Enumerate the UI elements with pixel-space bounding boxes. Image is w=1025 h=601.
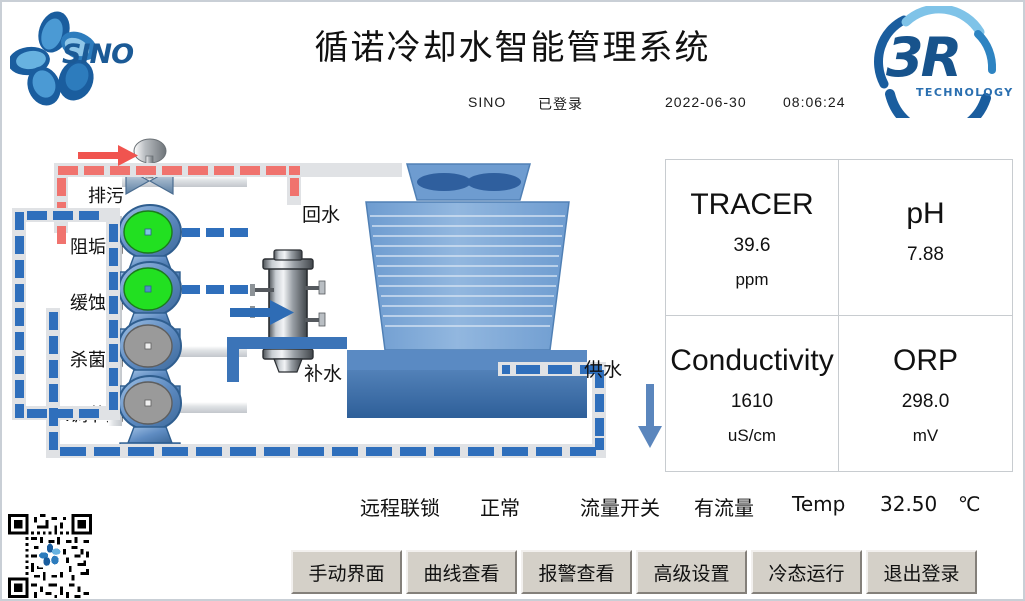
manual-interface-button[interactable]: 手动界面 [291, 550, 402, 594]
meter-orp-unit: mV [913, 427, 939, 444]
meter-ph[interactable]: pH 7.88 [839, 160, 1012, 316]
pump-ph-adjuster[interactable] [119, 376, 181, 453]
current-date: 2022-06-30 [665, 94, 747, 110]
temp-unit: ℃ [958, 492, 980, 516]
current-time: 08:06:24 [783, 94, 846, 110]
login-status: 已登录 [538, 94, 583, 114]
qr-code-icon [8, 514, 92, 598]
meter-orp-name: ORP [893, 346, 958, 376]
meter-conductivity[interactable]: Conductivity 1610 uS/cm [666, 316, 839, 472]
measurement-panel: TRACER 39.6 ppm pH 7.88 Conductivity 161… [665, 159, 1013, 472]
meter-conductivity-unit: uS/cm [728, 427, 776, 444]
meter-ph-name: pH [906, 199, 944, 229]
meter-tracer-value: 39.6 [734, 236, 771, 255]
3r-wordmark: 3R [886, 26, 959, 89]
curve-view-button[interactable]: 曲线查看 [406, 550, 517, 594]
remote-interlock-value: 正常 [480, 492, 520, 521]
cooling-tower [347, 164, 587, 418]
temp-value: 32.50 [880, 492, 937, 516]
remote-interlock-label: 远程联锁 [360, 492, 440, 521]
label-makeup-water: 补水 [304, 359, 342, 386]
return-flow-arrow-icon [78, 145, 138, 166]
meter-conductivity-value: 1610 [731, 392, 773, 411]
status-row: 远程联锁 正常 流量开关 有流量 Temp 32.50 ℃ [2, 492, 1023, 526]
button-bar: 手动界面 曲线查看 报警查看 高级设置 冷态运行 退出登录 [291, 550, 977, 594]
meter-ph-value: 7.88 [907, 245, 944, 264]
alarm-view-button[interactable]: 报警查看 [521, 550, 632, 594]
meter-conductivity-name: Conductivity [670, 346, 833, 376]
temp-label: Temp [792, 492, 845, 516]
process-diagram [2, 132, 672, 492]
header: SINO 循诺冷却水智能管理系统 SINO 已登录 2022-06-30 08:… [2, 2, 1023, 128]
3r-tagline: TECHNOLOGY [916, 86, 1014, 99]
current-user: SINO [468, 94, 506, 110]
3r-technology-logo: 3R TECHNOLOGY [860, 6, 1015, 118]
meter-tracer-unit: ppm [735, 271, 768, 288]
meter-tracer-name: TRACER [690, 190, 813, 220]
qr-code[interactable] [8, 514, 92, 598]
meter-tracer[interactable]: TRACER 39.6 ppm [666, 160, 839, 316]
advanced-settings-button[interactable]: 高级设置 [636, 550, 747, 594]
flow-switch-label: 流量开关 [580, 492, 660, 521]
supply-flow-arrow-icon [638, 384, 662, 448]
meter-orp[interactable]: ORP 298.0 mV [839, 316, 1012, 472]
flow-switch-value: 有流量 [694, 492, 754, 521]
logout-button[interactable]: 退出登录 [866, 550, 977, 594]
cold-start-button[interactable]: 冷态运行 [751, 550, 862, 594]
meter-orp-value: 298.0 [902, 392, 950, 411]
label-supply-water: 供水 [584, 355, 622, 382]
label-return-water: 回水 [302, 200, 340, 227]
hmi-window: SINO 循诺冷却水智能管理系统 SINO 已登录 2022-06-30 08:… [0, 0, 1025, 601]
